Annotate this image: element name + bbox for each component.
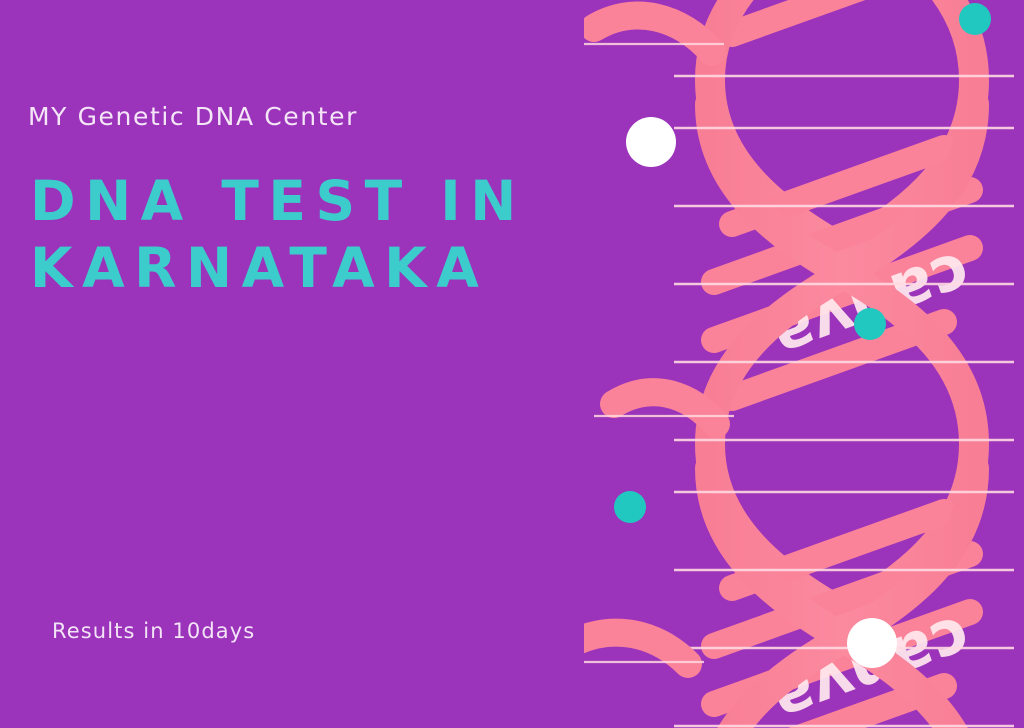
text-content-block: MY Genetic DNA Center DNA TEST IN KARNAT… — [0, 0, 600, 728]
poster-canvas: canva — [0, 0, 1024, 728]
teal-dot-middle-left — [614, 491, 646, 523]
white-dot-upper-left — [626, 117, 676, 167]
tagline: Results in 10days — [52, 619, 255, 643]
page-title-line-2: KARNATAKA — [30, 235, 570, 302]
artwork-background — [584, 0, 1024, 728]
brand-name: MY Genetic DNA Center — [28, 102, 358, 132]
teal-dot-top-right — [959, 3, 991, 35]
page-title-line-1: DNA TEST IN — [30, 168, 570, 235]
dna-helix-svg: canva — [584, 0, 1024, 728]
white-dot-lower — [847, 618, 897, 668]
teal-dot-middle-right — [854, 308, 886, 340]
dna-helix-artwork: canva — [584, 0, 1024, 728]
page-title: DNA TEST IN KARNATAKA — [30, 168, 570, 302]
